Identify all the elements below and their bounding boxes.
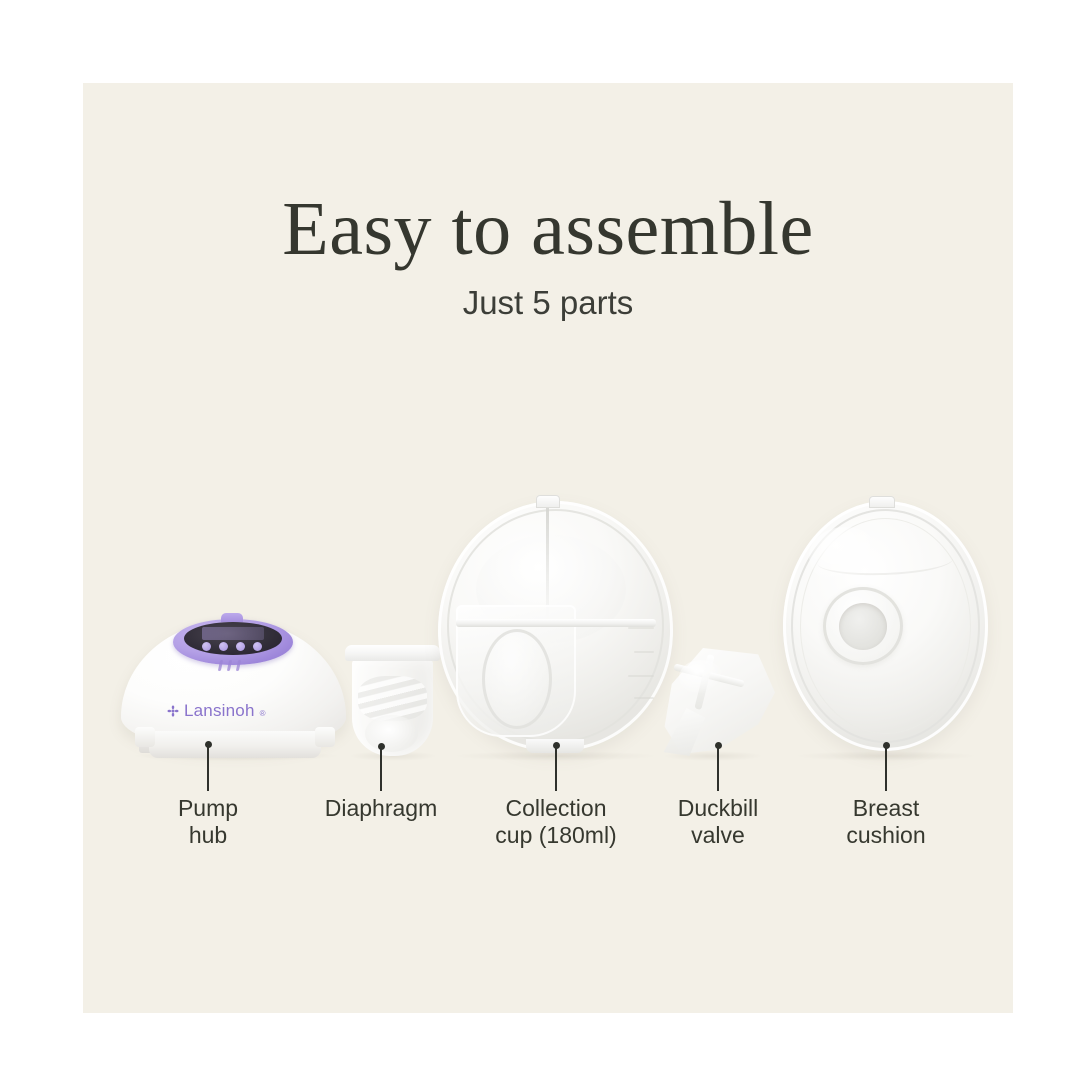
part-duckbill-valve xyxy=(655,648,775,758)
measurement-mark xyxy=(628,627,654,629)
brand-registered-mark: ® xyxy=(260,709,266,718)
part-pump-hub: Lansinoh ® xyxy=(121,613,346,758)
breast-cushion-highlight xyxy=(809,527,881,585)
collection-cup-top-tab xyxy=(536,495,560,508)
measurement-mark xyxy=(634,697,654,699)
breast-cushion-tunnel-opening xyxy=(839,603,887,650)
leader-line-breast-cushion xyxy=(885,746,887,791)
label-pump-hub: Pump hub xyxy=(128,795,288,849)
vent-slot xyxy=(218,660,223,671)
duckbill-valve-highlight xyxy=(679,660,723,694)
leader-line-duckbill-valve xyxy=(717,746,719,791)
measurement-mark xyxy=(628,675,654,677)
collection-cup-inner-oval xyxy=(482,629,552,729)
leader-line-pump-hub xyxy=(207,745,209,791)
vent-slot xyxy=(236,660,241,671)
label-breast-cushion: Breast cushion xyxy=(806,795,966,849)
part-diaphragm xyxy=(345,645,440,757)
measurement-mark xyxy=(634,651,654,653)
flower-mark-icon xyxy=(167,705,179,717)
leader-line-collection-cup xyxy=(555,746,557,791)
part-breast-cushion xyxy=(783,501,988,757)
pump-hub-button xyxy=(219,642,228,651)
label-duckbill-valve: Duckbill valve xyxy=(638,795,798,849)
pump-hub-base xyxy=(149,731,321,758)
label-collection-cup: Collection cup (180ml) xyxy=(476,795,636,849)
pump-hub-vents xyxy=(217,660,243,671)
leader-line-diaphragm xyxy=(380,747,382,791)
part-collection-cup xyxy=(438,501,673,757)
vent-slot xyxy=(227,660,232,671)
brand-name: Lansinoh xyxy=(184,701,255,721)
collection-cup-measurement-marks xyxy=(620,627,654,699)
diaphragm-rim xyxy=(345,645,440,661)
parts-diagram: Lansinoh ® Pump hub Diaphragm xyxy=(83,83,1013,1013)
pump-hub-buttons xyxy=(202,642,264,651)
content-panel: Easy to assemble Just 5 parts xyxy=(83,83,1013,1013)
brand-logo: Lansinoh ® xyxy=(167,701,307,721)
collection-cup-shelf xyxy=(456,619,656,627)
breast-cushion-top-tab xyxy=(869,496,895,508)
infographic-root: Easy to assemble Just 5 parts xyxy=(0,0,1080,1080)
pump-hub-top-tab xyxy=(221,613,243,622)
pump-hub-button xyxy=(202,642,211,651)
pump-hub-button xyxy=(253,642,262,651)
diaphragm-body xyxy=(352,658,433,756)
pump-hub-button xyxy=(236,642,245,651)
label-diaphragm: Diaphragm xyxy=(301,795,461,822)
pump-hub-display xyxy=(184,622,282,655)
pump-hub-digits xyxy=(202,627,264,640)
